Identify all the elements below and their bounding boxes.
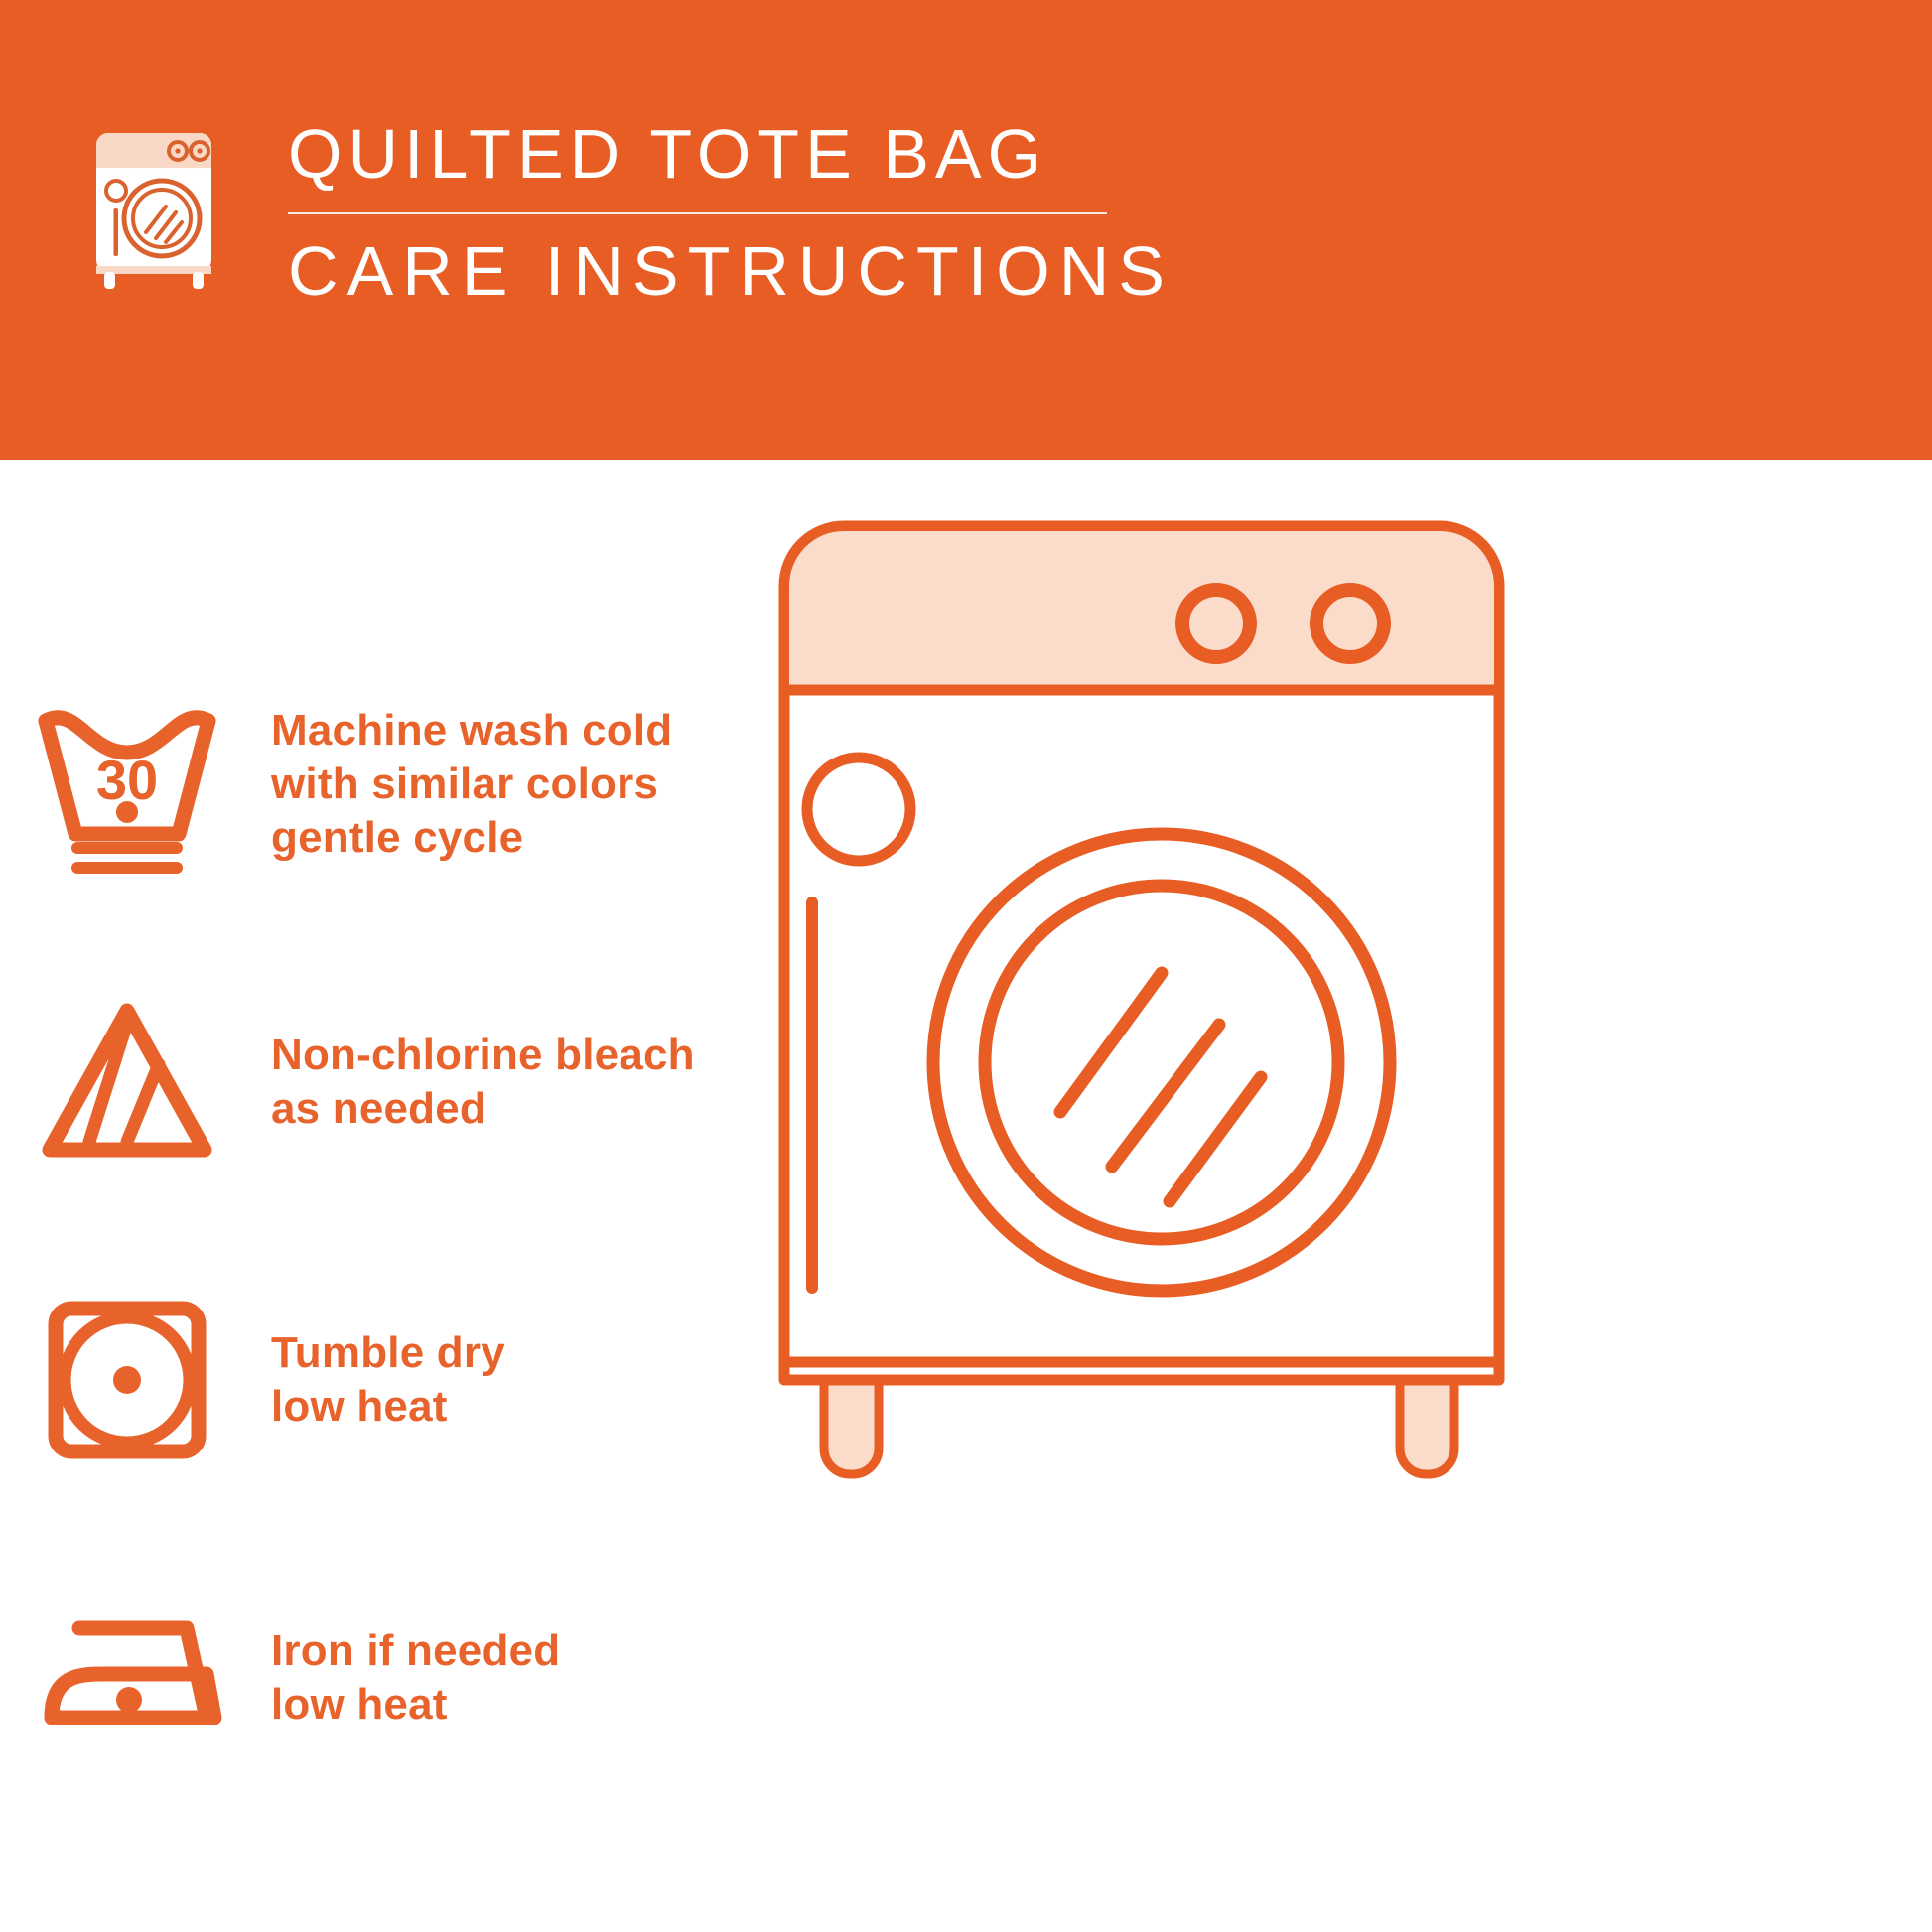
care-instructions-list: 30 Machine wash cold with similar colors… bbox=[0, 635, 874, 1827]
care-instruction-label: Iron if needed low heat bbox=[253, 1624, 560, 1730]
care-instruction-item: Non-chlorine bleach as needed bbox=[0, 933, 874, 1231]
iron-low-heat-icon bbox=[0, 1588, 253, 1767]
care-instruction-label: Machine wash cold with similar colors ge… bbox=[253, 704, 672, 864]
care-instruction-label: Non-chlorine bleach as needed bbox=[253, 1029, 695, 1135]
title-divider bbox=[288, 212, 1107, 214]
washing-machine-illustration bbox=[764, 506, 1519, 1489]
page-subtitle: CARE INSTRUCTIONS bbox=[288, 236, 1173, 306]
care-instruction-label: Tumble dry low heat bbox=[253, 1326, 505, 1433]
header-title-block: QUILTED TOTE BAG CARE INSTRUCTIONS bbox=[288, 115, 1173, 306]
page-title: QUILTED TOTE BAG bbox=[288, 119, 1173, 189]
care-instruction-item: Iron if needed low heat bbox=[0, 1529, 874, 1827]
header-content: QUILTED TOTE BAG CARE INSTRUCTIONS bbox=[74, 115, 1173, 306]
wash-basin-30-gentle-icon: 30 bbox=[0, 695, 253, 874]
non-chlorine-bleach-triangle-icon bbox=[0, 993, 253, 1172]
care-instruction-item: Tumble dry low heat bbox=[0, 1231, 874, 1529]
care-instruction-item: 30 Machine wash cold with similar colors… bbox=[0, 635, 874, 933]
header-banner: QUILTED TOTE BAG CARE INSTRUCTIONS bbox=[0, 0, 1932, 460]
tumble-dry-low-icon bbox=[0, 1291, 253, 1469]
washing-machine-icon bbox=[74, 115, 233, 289]
